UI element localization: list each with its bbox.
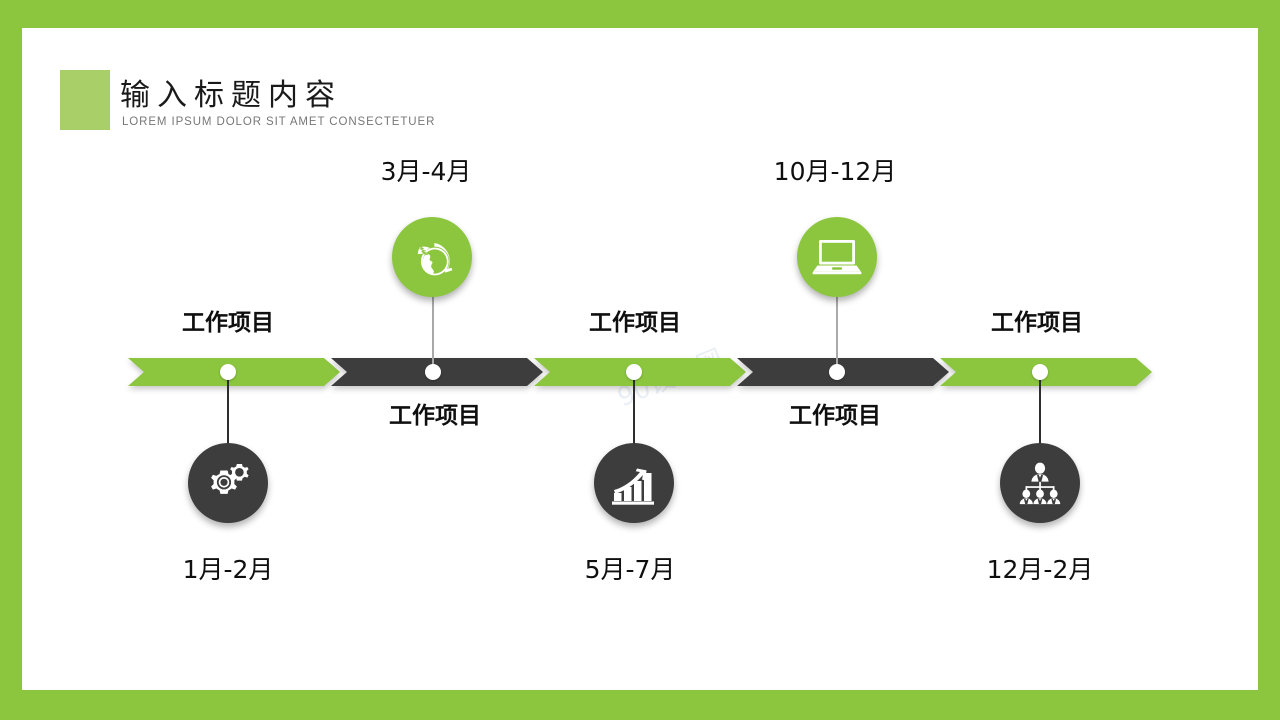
timeline-node-dot-5[interactable]: [1032, 364, 1048, 380]
connector-stem-2: [432, 296, 434, 372]
node-date-label-2: 3月-4月: [381, 152, 472, 188]
timeline: 工作项目 1月-2月: [0, 0, 1280, 720]
node-date-label-3: 5月-7月: [585, 550, 676, 586]
growth-bar-chart-icon: [610, 460, 658, 506]
timeline-node-dot-3[interactable]: [626, 364, 642, 380]
timeline-node-dot-1[interactable]: [220, 364, 236, 380]
node-date-label-4: 10月-12月: [774, 152, 897, 188]
node-icon-circle-4[interactable]: [797, 217, 877, 297]
node-icon-circle-3[interactable]: [594, 443, 674, 523]
connector-stem-4: [836, 296, 838, 372]
globe-airplane-icon: [406, 232, 458, 282]
node-icon-circle-2[interactable]: [392, 217, 472, 297]
connector-stem-5: [1039, 372, 1041, 452]
node-date-label-5: 12月-2月: [987, 550, 1094, 586]
connector-stem-1: [227, 372, 229, 452]
node-item-label-4: 工作项目: [789, 396, 881, 430]
timeline-node-dot-4[interactable]: [829, 364, 845, 380]
node-item-label-5: 工作项目: [991, 303, 1083, 337]
timeline-node-dot-2[interactable]: [425, 364, 441, 380]
node-date-label-1: 1月-2月: [183, 550, 274, 586]
node-icon-circle-1[interactable]: [188, 443, 268, 523]
gears-icon: [203, 461, 253, 505]
node-item-label-2: 工作项目: [389, 396, 481, 430]
node-icon-circle-5[interactable]: [1000, 443, 1080, 523]
laptop-icon: [812, 237, 862, 277]
org-chart-icon: [1016, 460, 1064, 506]
connector-stem-3: [633, 372, 635, 452]
node-item-label-1: 工作项目: [182, 303, 274, 337]
node-item-label-3: 工作项目: [589, 303, 681, 337]
slide-root: 输入标题内容 LOREM IPSUM DOLOR SIT AMET CONSEC…: [0, 0, 1280, 720]
